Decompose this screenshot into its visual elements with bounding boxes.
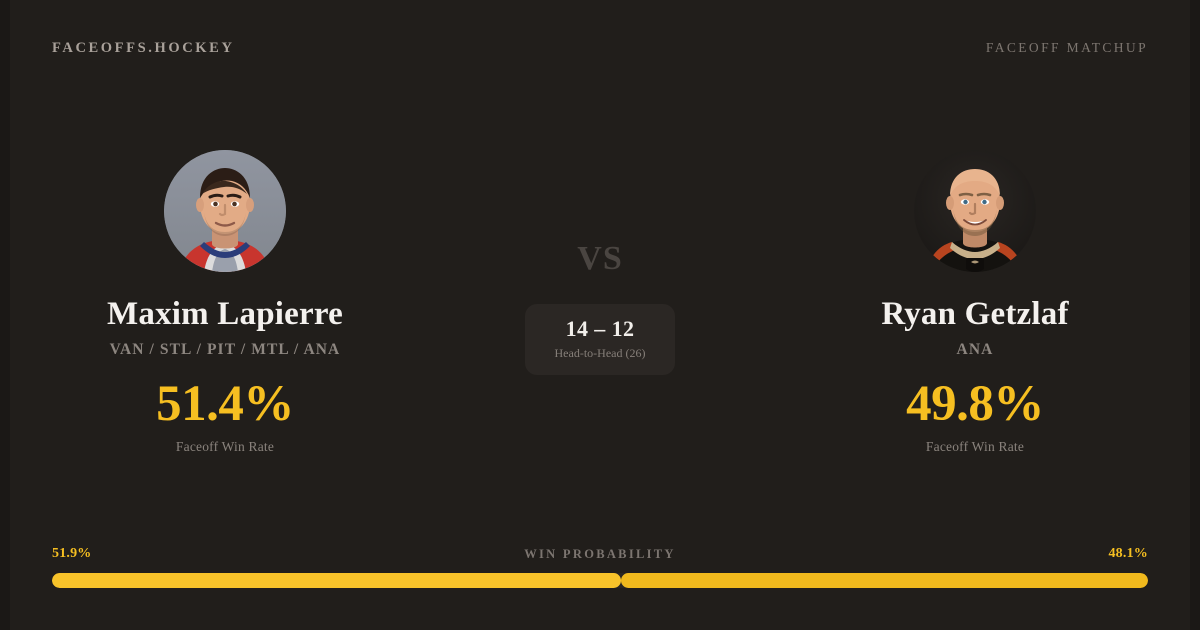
win-probability-fill-left <box>52 573 621 588</box>
win-probability-section: 51.9% WIN PROBABILITY 48.1% <box>52 546 1148 588</box>
left-player-name: Maxim Lapierre <box>107 296 343 333</box>
right-player-teams: ANA <box>957 341 994 359</box>
win-probability-right-value: 48.1% <box>1108 546 1148 562</box>
win-probability-fill-right <box>621 573 1148 588</box>
matchup-row: Maxim Lapierre VAN / STL / PIT / MTL / A… <box>0 150 1200 455</box>
center-panel: VS 14 – 12 Head-to-Head (26) <box>450 150 750 375</box>
page-kicker: FACEOFF MATCHUP <box>986 40 1148 56</box>
win-probability-bar <box>52 573 1148 588</box>
vs-label: VS <box>577 242 622 276</box>
left-player-panel: Maxim Lapierre VAN / STL / PIT / MTL / A… <box>0 150 450 455</box>
win-probability-left-value: 51.9% <box>52 546 92 562</box>
head-to-head-card: 14 – 12 Head-to-Head (26) <box>525 304 676 375</box>
page-header: FACEOFFS.HOCKEY FACEOFF MATCHUP <box>0 0 1200 96</box>
right-player-faceoff-pct: 49.8% <box>906 379 1044 430</box>
right-player-faceoff-label: Faceoff Win Rate <box>926 439 1024 455</box>
win-probability-title: WIN PROBABILITY <box>524 547 676 562</box>
player-headshot-lapierre <box>164 150 286 272</box>
right-player-panel: Ryan Getzlaf ANA 49.8% Faceoff Win Rate <box>750 150 1200 455</box>
left-player-faceoff-label: Faceoff Win Rate <box>176 439 274 455</box>
player-headshot-getzlaf <box>914 150 1036 272</box>
left-player-faceoff-pct: 51.4% <box>156 379 294 430</box>
win-probability-labels: 51.9% WIN PROBABILITY 48.1% <box>52 546 1148 562</box>
site-brand: FACEOFFS.HOCKEY <box>52 40 235 57</box>
left-player-teams: VAN / STL / PIT / MTL / ANA <box>110 341 341 359</box>
faceoff-matchup-card: FACEOFFS.HOCKEY FACEOFF MATCHUP <box>0 0 1200 630</box>
head-to-head-score: 14 – 12 <box>566 317 635 341</box>
right-player-name: Ryan Getzlaf <box>881 296 1068 333</box>
head-to-head-label: Head-to-Head (26) <box>555 346 646 361</box>
